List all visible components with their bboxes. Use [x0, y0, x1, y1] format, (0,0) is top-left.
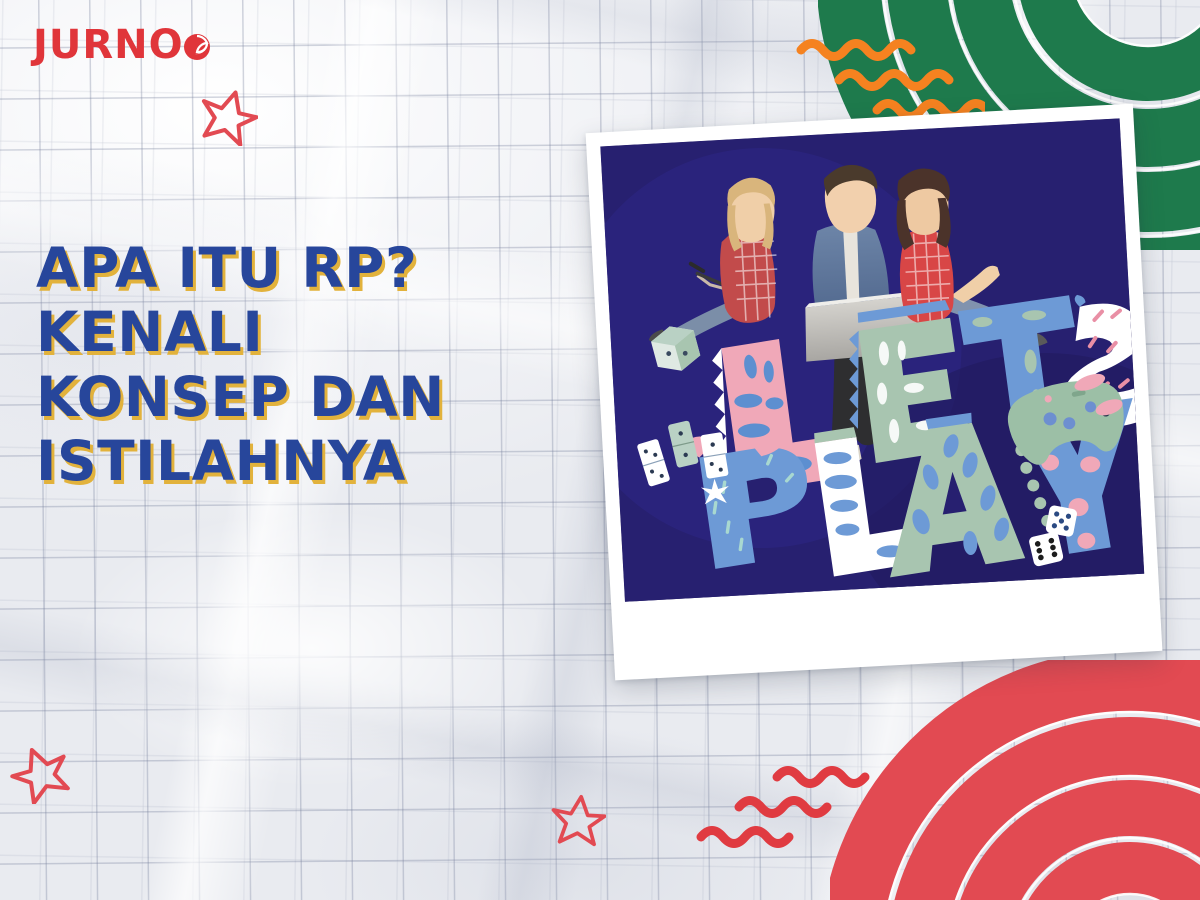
red-wavy-lines-icon: [695, 755, 885, 855]
star-outline-bottom-left-icon: [8, 742, 70, 804]
star-outline-bottom-center-icon: [548, 790, 606, 848]
circle-dot-icon: [182, 32, 212, 62]
headline-line-1: APA ITU RP?: [36, 236, 626, 300]
headline-line-2: KENALI: [36, 300, 626, 364]
star-outline-top-left-icon: [196, 84, 258, 146]
logo-wordmark: JURNO: [33, 25, 184, 65]
headline-line-4: ISTILAHNYA: [36, 429, 626, 493]
poster-canvas: JURNO APA ITU RP? KENALI KONSEP DAN ISTI…: [0, 0, 1200, 900]
polaroid-photo-card[interactable]: [586, 104, 1163, 681]
red-concentric-arcs-icon: [830, 660, 1200, 900]
page-title: APA ITU RP? KENALI KONSEP DAN ISTILAHNYA: [36, 236, 626, 493]
headline-line-3: KONSEP DAN: [36, 365, 626, 429]
jurno-logo[interactable]: JURNO: [33, 25, 212, 65]
dice-bottom-1: [1045, 505, 1078, 538]
polaroid-photo-area: [600, 118, 1144, 601]
lets-play-artwork: [600, 118, 1144, 601]
